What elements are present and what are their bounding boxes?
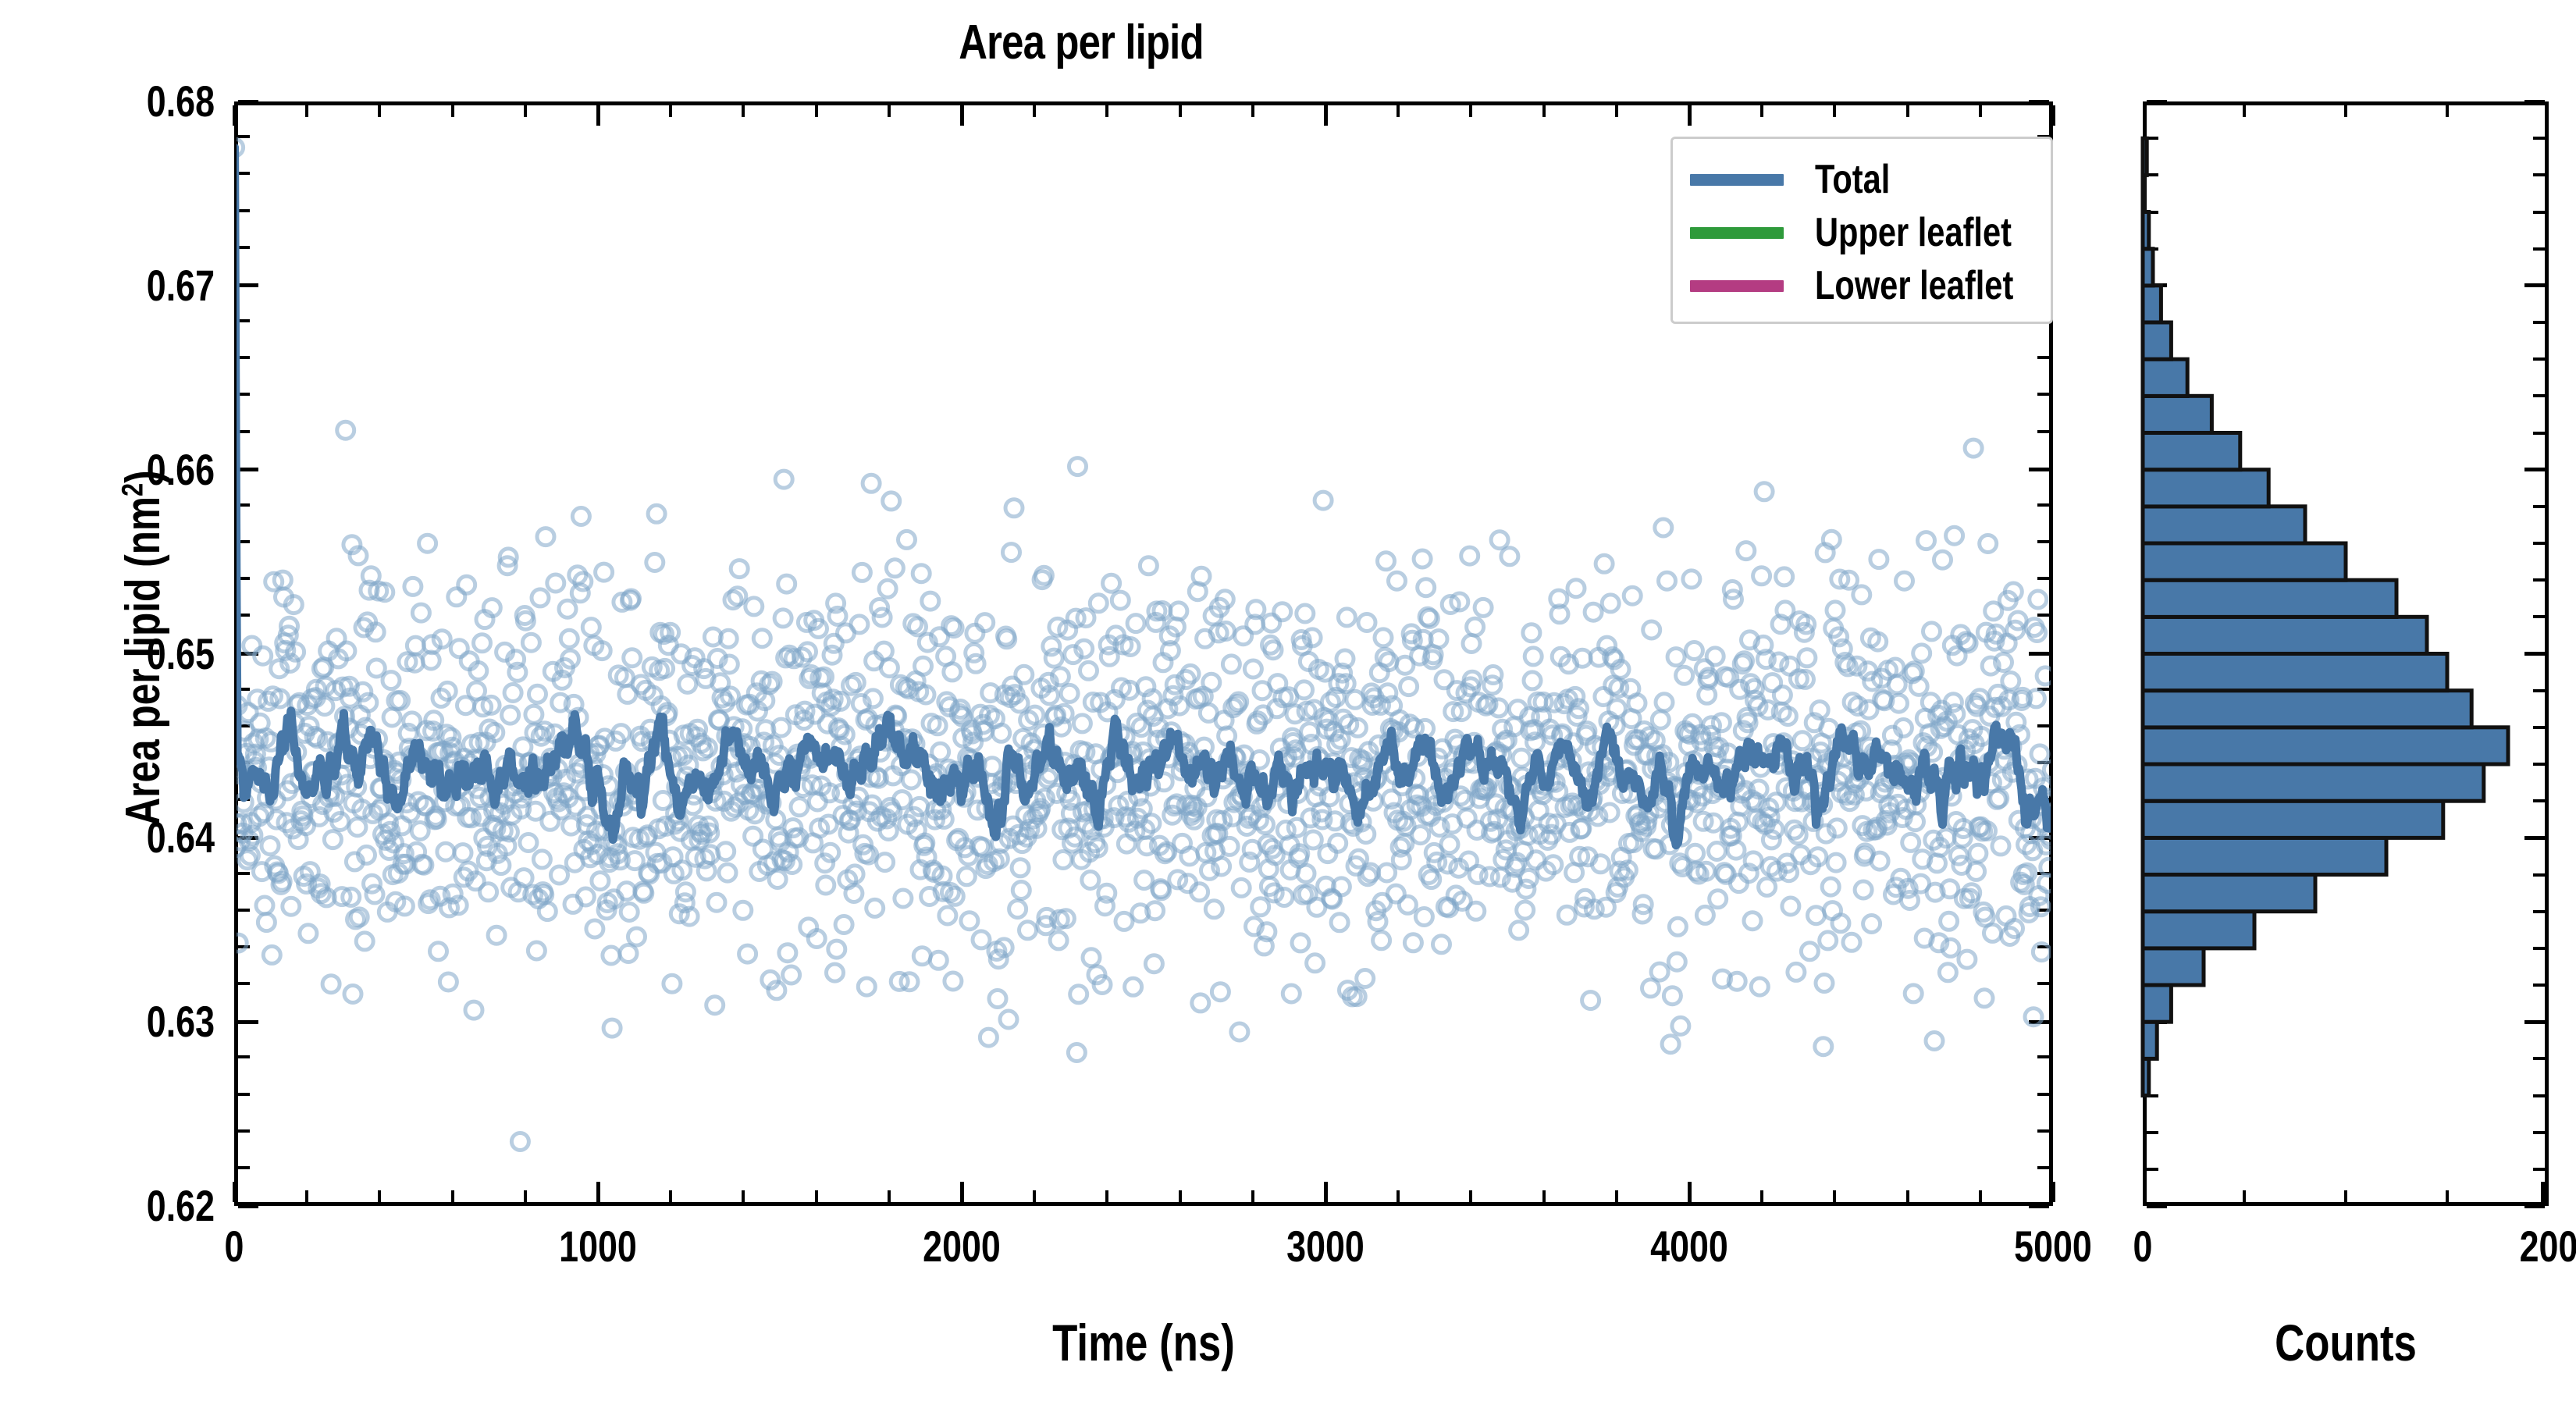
histogram-bars-group — [2143, 138, 2508, 1095]
histogram-plot-area — [0, 0, 2576, 1405]
histogram-bar — [2143, 433, 2240, 470]
histogram-bar — [2143, 286, 2161, 322]
histogram-bar — [2143, 359, 2187, 396]
histogram-bar — [2143, 654, 2447, 691]
histogram-bar — [2143, 543, 2346, 580]
histogram-bar — [2143, 1022, 2157, 1058]
histogram-bar — [2143, 138, 2147, 175]
histogram-bar — [2143, 470, 2268, 507]
histogram-bar — [2143, 948, 2204, 985]
histogram-bar — [2143, 801, 2443, 838]
histogram-bar — [2143, 985, 2171, 1022]
histogram-bar — [2143, 212, 2149, 249]
histogram-bar — [2143, 764, 2484, 801]
histogram-bar — [2143, 396, 2211, 432]
histogram-bar — [2143, 1058, 2149, 1095]
histogram-bar — [2143, 912, 2254, 948]
histogram-bar — [2143, 249, 2153, 286]
histogram-bar — [2143, 322, 2171, 359]
histogram-x-axis-label: Counts — [2183, 1311, 2508, 1374]
histogram-bar — [2143, 691, 2471, 727]
histogram-bar — [2143, 580, 2396, 617]
histogram-bar — [2143, 507, 2305, 543]
histogram-bar — [2143, 727, 2508, 764]
histogram-bar — [2143, 617, 2427, 653]
histogram-bar — [2143, 875, 2315, 912]
figure-canvas: Area per lipid 0.620.630.640.650.660.670… — [0, 0, 2576, 1405]
histogram-bar — [2143, 838, 2386, 874]
histogram-bar — [2143, 175, 2145, 212]
